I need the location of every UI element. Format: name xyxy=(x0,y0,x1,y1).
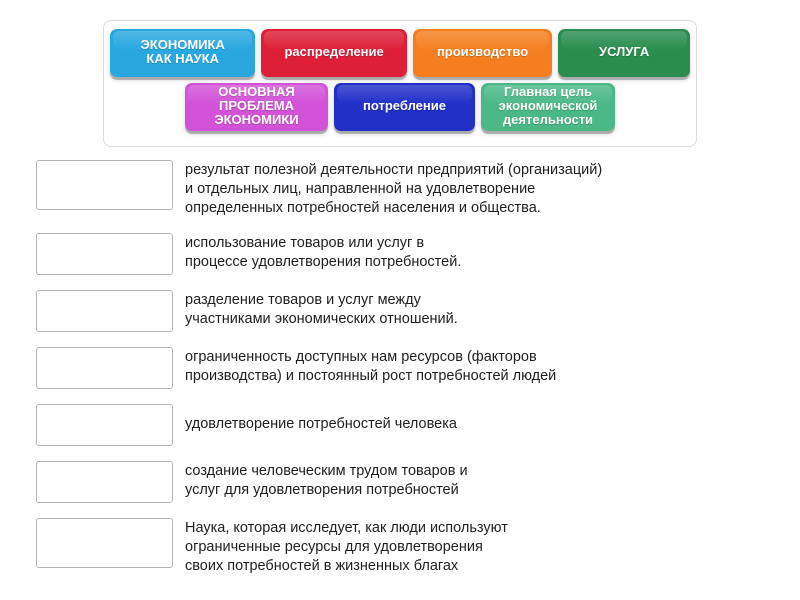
answer-text-2: использование товаров или услуг в процес… xyxy=(185,233,461,272)
tile-bank: ЭКОНОМИКА КАК НАУКА распределение произв… xyxy=(103,20,697,147)
tile-economics-as-science[interactable]: ЭКОНОМИКА КАК НАУКА xyxy=(110,29,255,77)
drop-zone-2[interactable] xyxy=(36,233,173,275)
answer-text-3: разделение товаров и услуг между участни… xyxy=(185,290,458,329)
answer-text-1: результат полезной деятельности предприя… xyxy=(185,160,602,218)
tile-bank-row-2: ОСНОВНАЯ ПРОБЛЕМА ЭКОНОМИКИ потребление … xyxy=(110,83,690,131)
answer-row: удовлетворение потребностей человека xyxy=(0,404,800,446)
tile-bank-row-1: ЭКОНОМИКА КАК НАУКА распределение произв… xyxy=(110,29,690,77)
drop-zone-7[interactable] xyxy=(36,518,173,568)
tile-main-goal-of-economic-activity[interactable]: Главная цель экономической деятельности xyxy=(481,83,615,131)
answer-row: разделение товаров и услуг между участни… xyxy=(0,290,800,332)
drop-zone-1[interactable] xyxy=(36,160,173,210)
answer-row: ограниченность доступных нам ресурсов (ф… xyxy=(0,347,800,389)
answer-text-4: ограниченность доступных нам ресурсов (ф… xyxy=(185,347,556,386)
answer-list: результат полезной деятельности предприя… xyxy=(0,160,800,591)
answer-text-6: создание человеческим трудом товаров и у… xyxy=(185,461,468,500)
answer-row: использование товаров или услуг в процес… xyxy=(0,233,800,275)
answer-text-7: Наука, которая исследует, как люди испол… xyxy=(185,518,508,576)
drop-zone-4[interactable] xyxy=(36,347,173,389)
tile-production[interactable]: производство xyxy=(413,29,553,77)
tile-distribution[interactable]: распределение xyxy=(261,29,406,77)
drop-zone-5[interactable] xyxy=(36,404,173,446)
drop-zone-6[interactable] xyxy=(36,461,173,503)
answer-row: создание человеческим трудом товаров и у… xyxy=(0,461,800,503)
answer-row: Наука, которая исследует, как люди испол… xyxy=(0,518,800,576)
drop-zone-3[interactable] xyxy=(36,290,173,332)
tile-service[interactable]: УСЛУГА xyxy=(558,29,690,77)
tile-main-problem-of-economics[interactable]: ОСНОВНАЯ ПРОБЛЕМА ЭКОНОМИКИ xyxy=(185,83,328,131)
tile-consumption[interactable]: потребление xyxy=(334,83,475,131)
answer-text-5: удовлетворение потребностей человека xyxy=(185,404,457,434)
answer-row: результат полезной деятельности предприя… xyxy=(0,160,800,218)
